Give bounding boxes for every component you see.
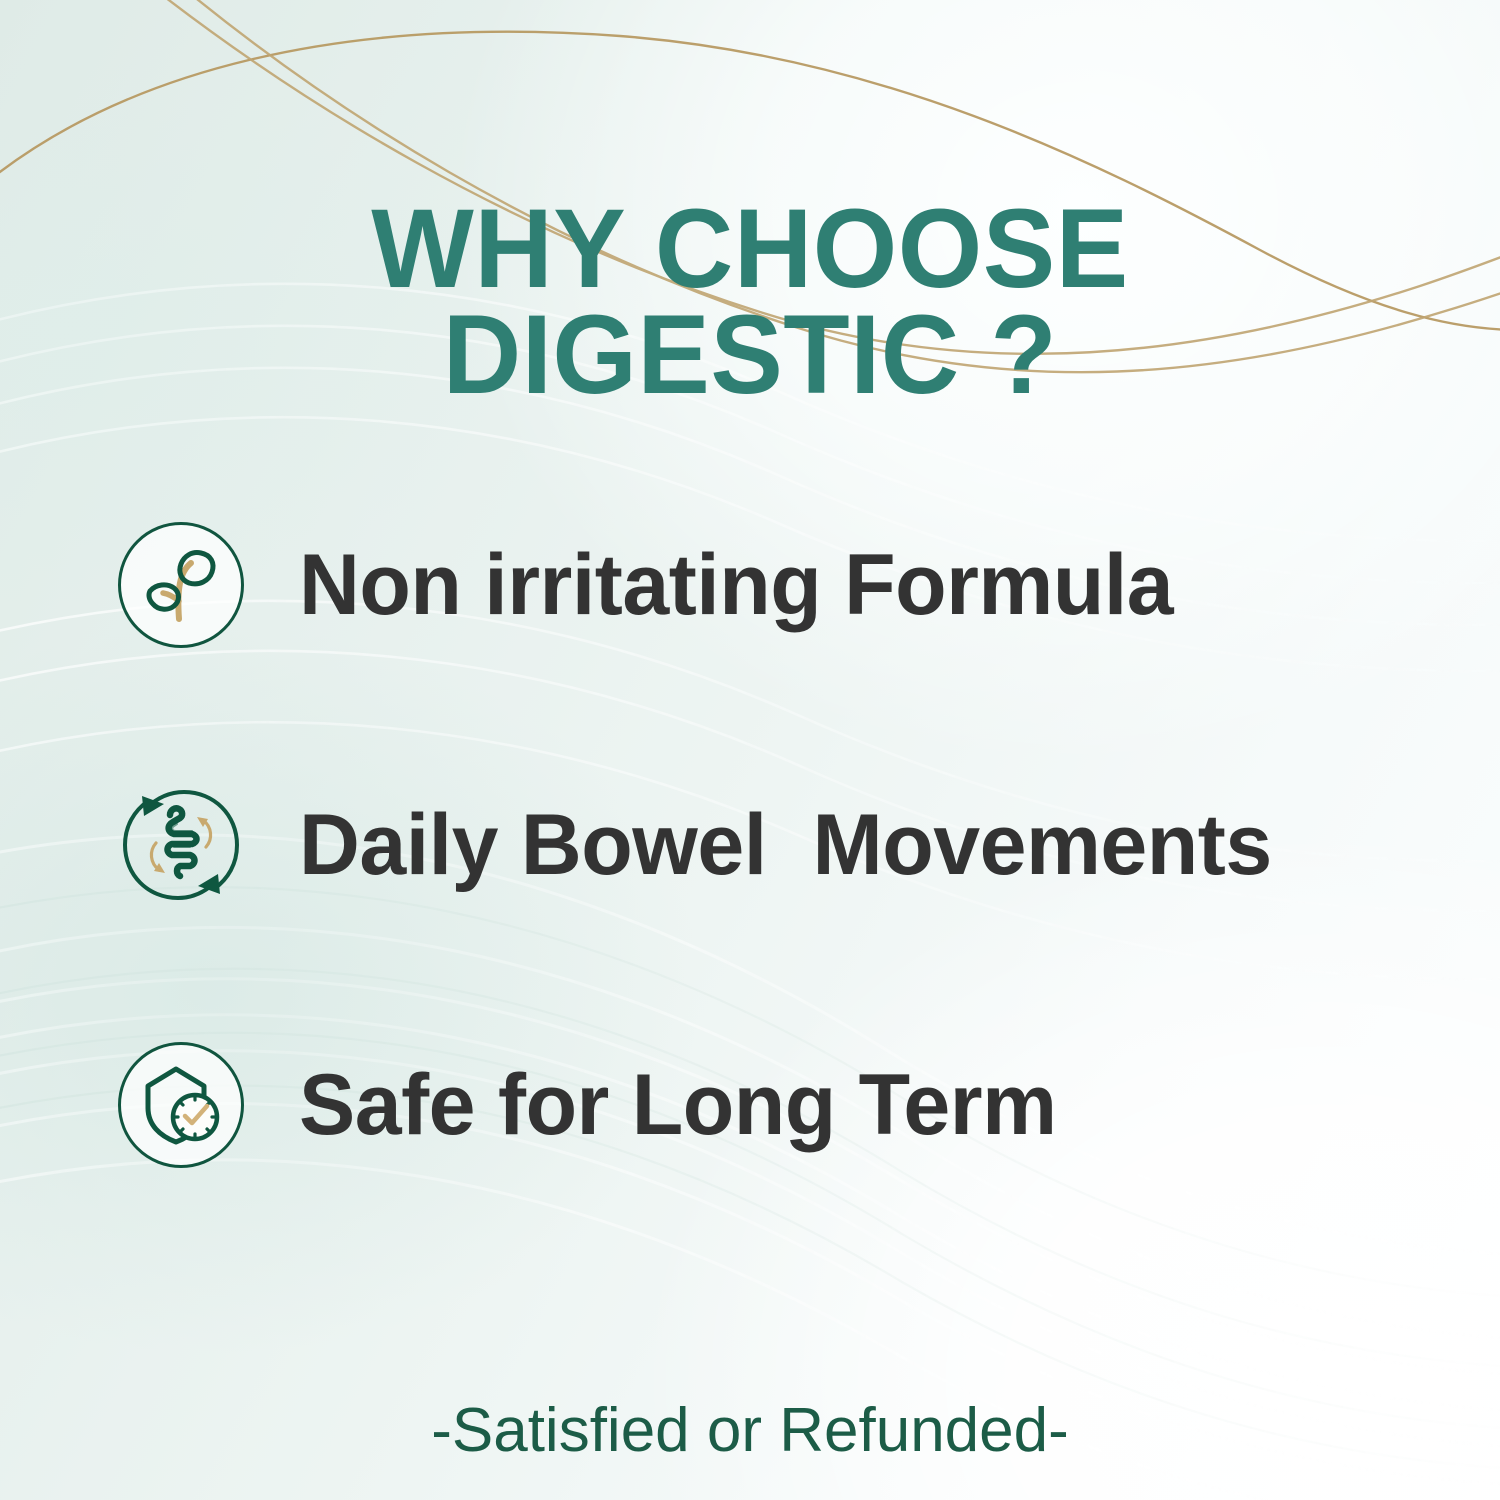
feature-list: Non irritating Formula — [118, 520, 1458, 1170]
sprout-leaf-icon — [118, 522, 244, 648]
feature-item-safe-long-term: Safe for Long Term — [118, 1040, 1458, 1170]
guarantee-text: -Satisfied or Refunded- — [0, 1396, 1500, 1466]
feature-label: Non irritating Formula — [299, 539, 1173, 631]
shield-clock-icon — [118, 1042, 244, 1168]
feature-item-non-irritating: Non irritating Formula — [118, 520, 1458, 650]
title-line-2: DIGESTIC ? — [23, 302, 1478, 408]
feature-label: Safe for Long Term — [299, 1059, 1057, 1151]
why-choose-poster: WHY CHOOSE DIGESTIC ? Non irr — [0, 0, 1500, 1500]
feature-item-daily-bowel: Daily Bowel Movements — [118, 780, 1458, 910]
feature-label: Daily Bowel Movements — [299, 799, 1272, 891]
page-title: WHY CHOOSE DIGESTIC ? — [0, 196, 1500, 408]
intestine-cycle-icon — [118, 782, 244, 908]
title-line-1: WHY CHOOSE — [23, 196, 1478, 302]
